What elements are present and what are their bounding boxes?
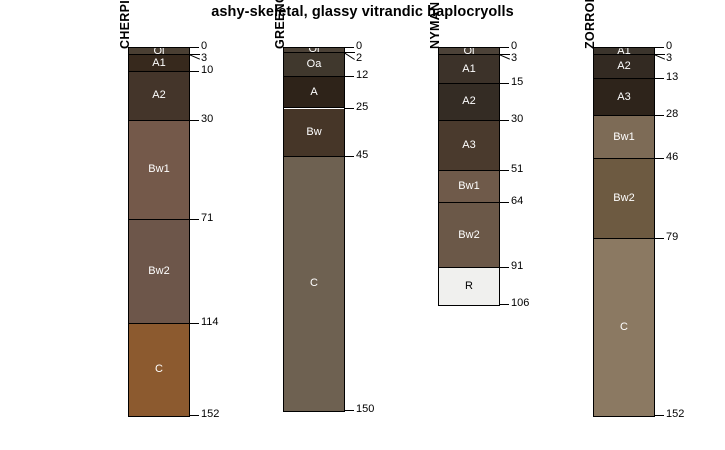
depth-tick xyxy=(189,120,199,121)
horizon-label: A1 xyxy=(617,48,630,55)
horizon-label: C xyxy=(310,278,318,289)
depth-tick xyxy=(654,78,664,79)
depth-label: 114 xyxy=(201,317,219,328)
horizon-label: A xyxy=(310,87,317,98)
depth-tick xyxy=(654,415,664,416)
depth-label: 30 xyxy=(201,114,213,125)
horizon-label: C xyxy=(155,364,163,375)
horizon-label: A2 xyxy=(152,90,165,101)
horizon-segment[interactable]: A1 xyxy=(594,48,654,55)
depth-label: 152 xyxy=(201,409,219,420)
depth-tick xyxy=(189,415,199,416)
depth-tick xyxy=(189,47,199,48)
horizon-segment[interactable]: A xyxy=(284,77,344,108)
horizon-segment[interactable]: Bw1 xyxy=(594,116,654,160)
depth-label: 3 xyxy=(666,53,672,64)
horizon-label: R xyxy=(465,281,473,292)
horizon-segment[interactable]: C xyxy=(594,239,654,416)
profile-name-zorromount: ZORROMOUNT xyxy=(583,0,597,49)
horizon-label: Bw2 xyxy=(458,230,479,241)
horizon-label: A1 xyxy=(462,64,475,75)
depth-label: 51 xyxy=(511,164,523,175)
depth-tick xyxy=(499,120,509,121)
horizon-segment[interactable]: Oa xyxy=(284,53,344,77)
depth-tick xyxy=(189,219,199,220)
depth-tick xyxy=(499,170,509,171)
depth-label: 3 xyxy=(511,53,517,64)
horizon-segment[interactable]: A2 xyxy=(129,72,189,120)
horizon-segment[interactable]: Bw1 xyxy=(439,171,499,202)
depth-label: 45 xyxy=(356,150,368,161)
horizon-label: A2 xyxy=(617,61,630,72)
profile-name-greengrove: GREENGROVE xyxy=(273,0,287,49)
profile-bar-greengrove[interactable]: OiOaABwC xyxy=(283,47,345,412)
horizon-segment[interactable]: Bw2 xyxy=(129,220,189,324)
depth-label: 12 xyxy=(356,70,368,81)
depth-tick xyxy=(499,47,509,48)
depth-label: 106 xyxy=(511,298,529,309)
depth-tick xyxy=(344,410,354,411)
depth-tick xyxy=(189,71,199,72)
depth-tick xyxy=(499,202,509,203)
depth-label: 0 xyxy=(511,41,517,52)
depth-tick xyxy=(189,323,199,324)
depth-label: 150 xyxy=(356,404,374,415)
depth-label: 25 xyxy=(356,102,368,113)
profile-name-nyman: NYMAN xyxy=(428,2,442,49)
depth-tick xyxy=(654,158,664,159)
depth-label: 91 xyxy=(511,261,523,272)
depth-tick xyxy=(499,83,509,84)
depth-label: 0 xyxy=(201,41,207,52)
horizon-segment[interactable]: R xyxy=(439,268,499,304)
depth-tick xyxy=(344,76,354,77)
horizon-segment[interactable]: Oi xyxy=(439,48,499,55)
horizon-label: Bw1 xyxy=(148,164,169,175)
horizon-label: A1 xyxy=(152,58,165,69)
profile-bar-nyman[interactable]: OiA1A2A3Bw1Bw2R xyxy=(438,47,500,306)
horizon-segment[interactable]: C xyxy=(129,324,189,416)
horizon-label: Oi xyxy=(154,48,165,55)
depth-label: 0 xyxy=(356,41,362,52)
horizon-segment[interactable]: Bw2 xyxy=(594,159,654,239)
page-title: ashy-skeletal, glassy vitrandic haplocry… xyxy=(0,4,725,20)
horizon-label: A3 xyxy=(462,140,475,151)
profile-bar-cherpi[interactable]: OiA1A2Bw1Bw2C xyxy=(128,47,190,417)
depth-label: 152 xyxy=(666,409,684,420)
horizon-segment[interactable]: Bw2 xyxy=(439,203,499,268)
depth-label: 46 xyxy=(666,152,678,163)
horizon-segment[interactable]: C xyxy=(284,157,344,411)
depth-tick xyxy=(654,115,664,116)
horizon-label: Bw xyxy=(306,127,321,138)
horizon-label: A3 xyxy=(617,92,630,103)
horizon-segment[interactable]: A3 xyxy=(439,121,499,172)
horizon-segment[interactable]: Bw xyxy=(284,109,344,157)
horizon-segment[interactable]: A1 xyxy=(129,55,189,72)
depth-tick xyxy=(344,108,354,109)
depth-tick xyxy=(344,47,354,48)
profile-name-cherpi: CHERPI xyxy=(118,0,132,49)
horizon-label: Bw1 xyxy=(458,181,479,192)
horizon-label: Oi xyxy=(464,48,475,55)
depth-tick xyxy=(499,267,509,268)
depth-label: 3 xyxy=(201,53,207,64)
horizon-segment[interactable]: A3 xyxy=(594,79,654,115)
horizon-label: Bw2 xyxy=(613,193,634,204)
depth-label: 0 xyxy=(666,41,672,52)
depth-label: 28 xyxy=(666,109,678,120)
depth-tick xyxy=(654,47,664,48)
depth-tick xyxy=(499,304,509,305)
horizon-segment[interactable]: Bw1 xyxy=(129,121,189,220)
horizon-segment[interactable]: A1 xyxy=(439,55,499,84)
depth-label: 64 xyxy=(511,196,523,207)
depth-tick xyxy=(654,238,664,239)
horizon-segment[interactable]: A2 xyxy=(439,84,499,120)
horizon-label: Oa xyxy=(307,59,322,70)
depth-label: 2 xyxy=(356,53,362,64)
depth-label: 13 xyxy=(666,72,678,83)
depth-label: 15 xyxy=(511,77,523,88)
horizon-label: Bw2 xyxy=(148,266,169,277)
horizon-label: C xyxy=(620,322,628,333)
depth-label: 79 xyxy=(666,232,678,243)
horizon-label: Bw1 xyxy=(613,132,634,143)
depth-tick xyxy=(344,156,354,157)
depth-label: 71 xyxy=(201,213,213,224)
horizon-segment[interactable]: A2 xyxy=(594,55,654,79)
depth-label: 30 xyxy=(511,114,523,125)
horizon-segment[interactable]: Oi xyxy=(129,48,189,55)
profile-bar-zorromount[interactable]: A1A2A3Bw1Bw2C xyxy=(593,47,655,417)
depth-label: 10 xyxy=(201,65,213,76)
horizon-label: A2 xyxy=(462,96,475,107)
